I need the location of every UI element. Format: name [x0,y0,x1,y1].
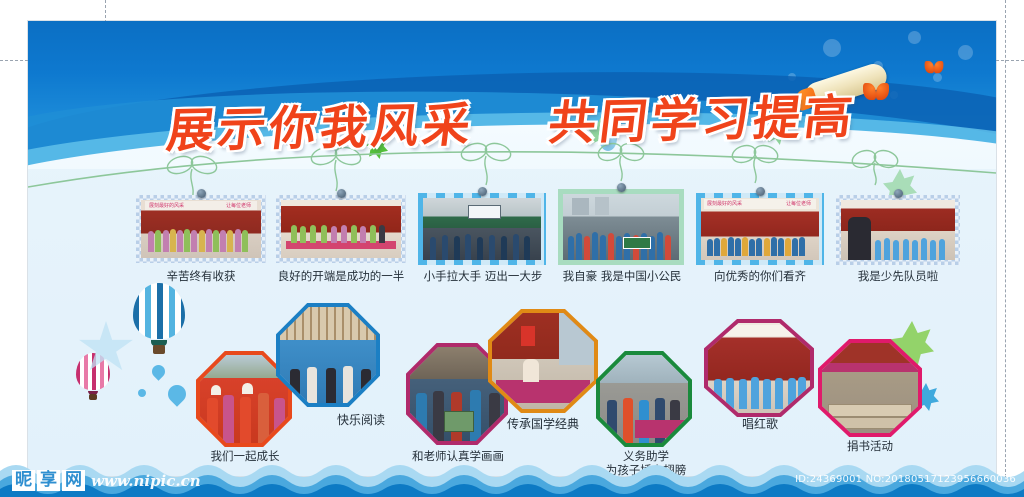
watermark-logo: 昵 享 网 www.nipic.cn [12,470,201,491]
droplet-icon [138,389,146,397]
photo-image [822,343,918,433]
photo-caption: 唱红歌 [720,417,800,431]
watermark-char: 享 [37,470,60,491]
pin-icon [617,183,626,192]
photo-image [841,200,955,260]
bubble-decor [823,39,841,57]
watermark-char: 网 [62,470,85,491]
hot-air-balloon-pink [76,353,110,401]
photo-caption: 良好的开端是成功的一半 [268,269,414,283]
guide-line-vertical-right [1005,0,1006,497]
screenshot-canvas: 展示你我风采 共同学习提高 [0,0,1024,497]
watermark-logo-chars: 昵 享 网 [12,470,85,491]
photo-octagon[interactable] [276,303,380,407]
poster-board: 展示你我风采 共同学习提高 [28,21,996,476]
photo-octagon[interactable] [704,319,814,417]
watermark-strip: 昵 享 网 www.nipic.cn ID:24369001 NO:201805… [0,457,1024,497]
hot-air-balloon-blue [133,283,185,355]
photo-image [600,355,688,443]
photo-card[interactable]: 展刻最好的风采 让每位老师 [696,193,824,265]
photo-image [280,307,376,403]
photo-card[interactable] [276,195,406,263]
droplet-icon [164,381,189,406]
photo-caption: 捐书活动 [814,439,926,453]
photo-card[interactable] [418,193,546,265]
page-title-part2: 共同学习提高 [546,90,859,151]
photo-caption: 小手拉大手 迈出一大步 [410,269,556,283]
pin-icon [337,189,346,198]
photo-image [563,194,679,260]
photo-image: 展刻最好的风采 让每位老师 [141,200,261,258]
photo-image: 展刻最好的风采 让每位老师 [701,198,819,260]
photo-image [492,313,594,409]
photo-card[interactable] [558,189,684,265]
photo-caption: 我是少先队员啦 [828,269,968,283]
photo-caption: 向优秀的你们看齐 [692,269,828,283]
pin-icon [894,189,903,198]
photo-caption: 传承国学经典 [478,417,608,431]
pin-icon [478,187,487,196]
photo-image [423,198,541,260]
photo-card[interactable]: 展刻最好的风采 让每位老师 [136,195,266,263]
watermark-char: 昵 [12,470,35,491]
photo-caption: 辛苦终有收获 [136,269,266,283]
photo-image [708,323,810,413]
watermark-id: ID:24369001 NO:20180517123956660036 [795,474,1016,485]
page-title-part1: 展示你我风采 [164,98,477,159]
photo-caption: 我自豪 我是中国小公民 [548,269,696,283]
photo-image [281,200,401,258]
bubble-decor [908,31,921,44]
photo-image [200,355,288,443]
watermark-url: www.nipic.cn [91,472,201,490]
photo-octagon[interactable] [488,309,598,413]
pin-icon [197,189,206,198]
photo-octagon[interactable] [596,351,692,447]
title-gap [493,140,527,141]
photo-card[interactable] [836,195,960,265]
bubble-decor [958,45,973,60]
droplet-icon [149,362,167,380]
photo-caption: 快乐阅读 [316,413,406,427]
pin-icon [756,187,765,196]
top-photo-row: 展刻最好的风采 让每位老师 辛苦终有收获 [28,173,996,291]
